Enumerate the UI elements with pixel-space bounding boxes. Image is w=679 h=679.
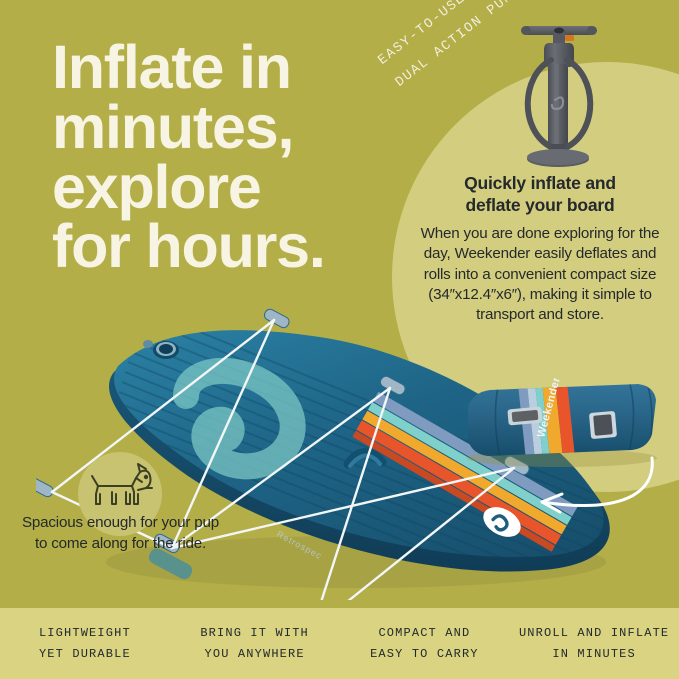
dual-action-pump-icon [505,14,613,174]
pointer-arrow-icon [470,450,660,545]
caption-item: COMPACT AND EASY TO CARRY [340,623,510,664]
caption-item: UNROLL AND INFLATE IN MINUTES [509,623,679,664]
infographic-poster: Inflate in minutes, explore for hours. E… [0,0,679,679]
feature-caption-strip: LIGHTWEIGHT YET DURABLE BRING IT WITH YO… [0,608,679,679]
dog-blurb-text: Spacious enough for your pup to come alo… [18,513,223,555]
right-panel-title: Quickly inflate and deflate your board [414,172,666,217]
caption-item: LIGHTWEIGHT YET DURABLE [0,623,170,664]
caption-item: BRING IT WITH YOU ANYWHERE [170,623,340,664]
page-title: Inflate in minutes, explore for hours. [52,38,382,277]
